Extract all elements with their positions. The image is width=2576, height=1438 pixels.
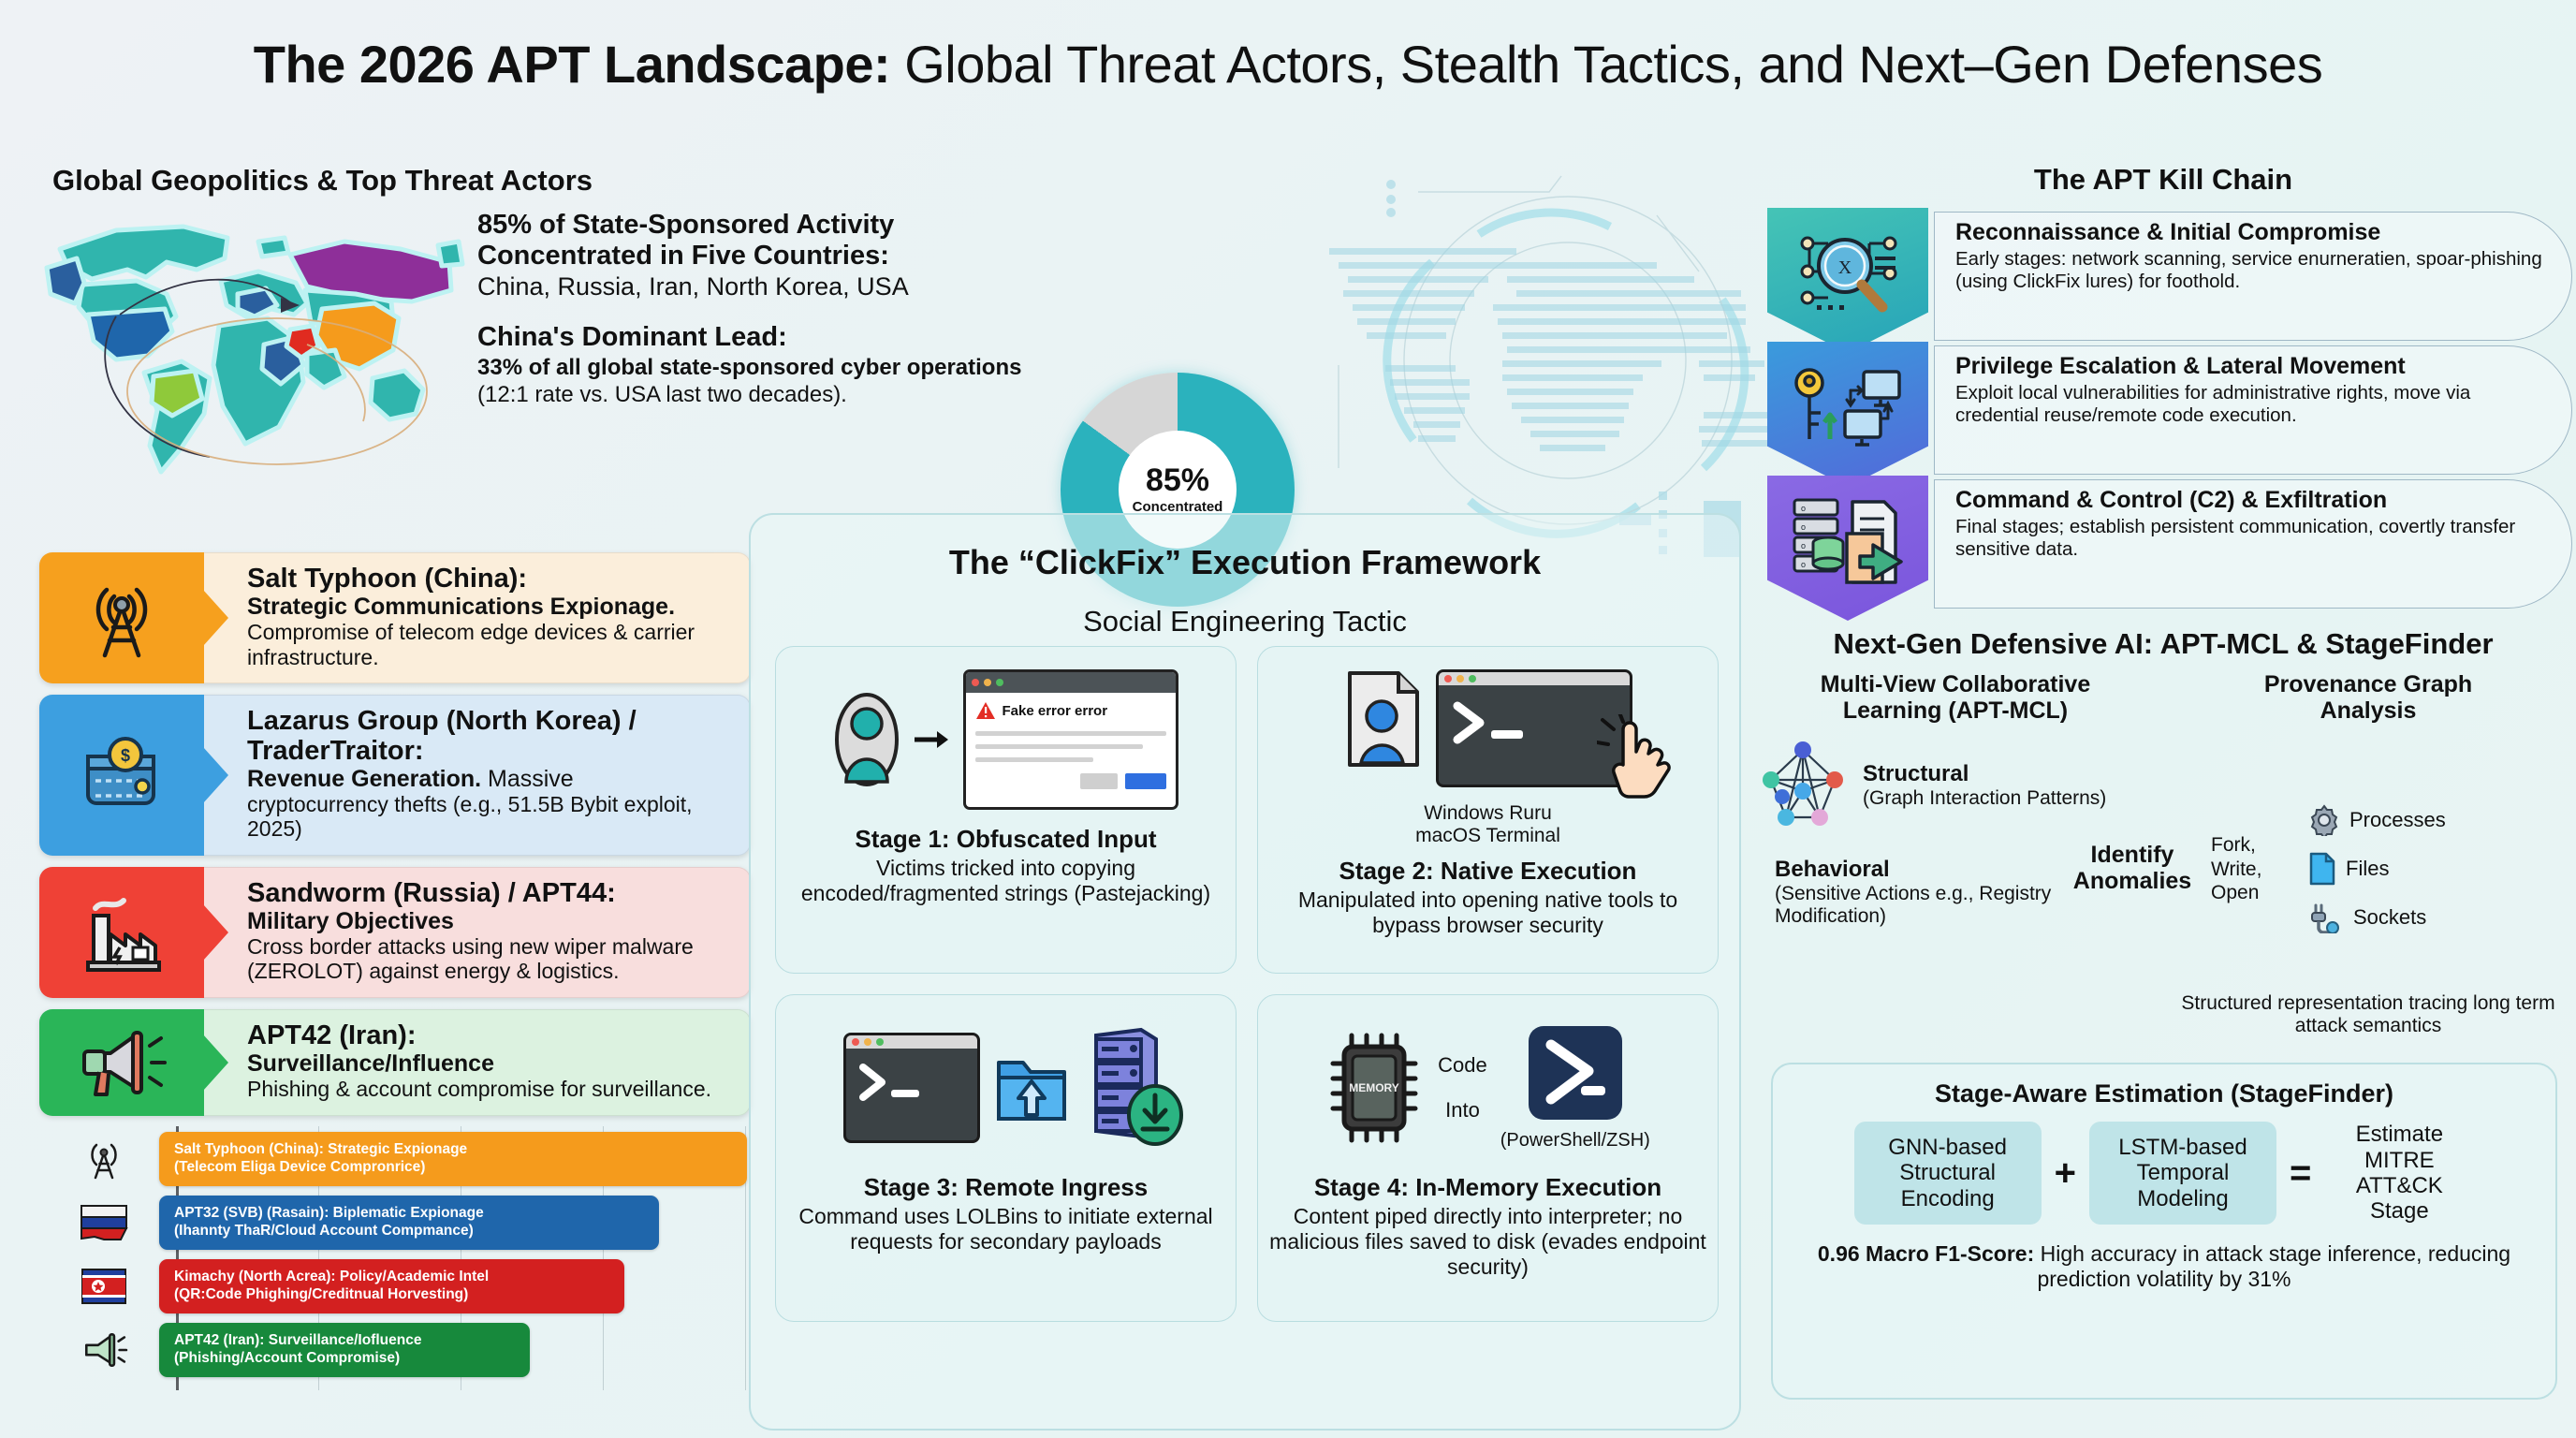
- maximize-dot: [1469, 675, 1476, 682]
- killchain-stage-title: Command & Control (C2) & Exfiltration: [1955, 488, 2545, 513]
- stage-heading: Stage 3: Remote Ingress: [864, 1173, 1148, 1202]
- svg-text:$: $: [121, 746, 130, 765]
- powershell-icon: [1527, 1024, 1624, 1122]
- svg-text:X: X: [1838, 257, 1852, 278]
- stage-description: Command uses LOLBins to initiate externa…: [787, 1204, 1224, 1255]
- clickfix-stage-card[interactable]: Fake error error Stage 1: Obfuscate: [775, 646, 1237, 974]
- killchain-heading: The APT Kill Chain: [1750, 163, 2576, 197]
- key-monitors-icon: [1767, 342, 1928, 487]
- stage2-artwork: [1344, 660, 1632, 819]
- clickfix-title: The “ClickFix” Execution Framework: [751, 543, 1739, 582]
- click-hand-icon: [1597, 714, 1683, 804]
- chart-bar-row: APT42 (Iran): Surveillance/Iofluence (Ph…: [37, 1321, 530, 1379]
- svg-text:o: o: [1801, 504, 1806, 513]
- page-title-bold: The 2026 APT Landscape:: [254, 35, 890, 94]
- chart-bar-label-line1: Kimachy (North Acrea): Policy/Academic I…: [174, 1269, 611, 1286]
- upload-folder-icon: [993, 1046, 1070, 1130]
- stagefinder-equation: GNN-based Structural Encoding + LSTM-bas…: [1790, 1122, 2539, 1225]
- threat-actor-body: Sandworm (Russia) / APT44: Military Obje…: [204, 867, 751, 998]
- killchain-stage-box: Command & Control (C2) & Exfiltration Fi…: [1934, 479, 2572, 609]
- stat-body-rest: (12:1 rate vs. USA last two decades).: [477, 382, 847, 407]
- flow-label-into: Into: [1438, 1088, 1487, 1133]
- memory-chip-icon: MEMORY: [1325, 1030, 1425, 1146]
- stagefinder-result: Estimate MITRE ATT&CK Stage: [2324, 1122, 2474, 1224]
- threat-actor-subtitle-rest: Massive: [481, 766, 574, 792]
- stagefinder-footer-bold: 0.96 Macro F1-Score:: [1818, 1241, 2034, 1266]
- threat-actor-title: Lazarus Group (North Korea) / TraderTrai…: [247, 707, 733, 766]
- stage4-artwork: MEMORY Code Into (PowerShell/ZSH): [1325, 1008, 1650, 1167]
- flag-northkorea-icon: [75, 1261, 133, 1312]
- chart-bar-label-line2: (QR:Code Phighing/Creditnual Horvesting): [174, 1286, 611, 1304]
- minimize-dot: [864, 1038, 871, 1046]
- mcl-heading-line1: Multi-View Collaborative: [1754, 672, 2157, 698]
- fake-error-window: Fake error error: [963, 669, 1178, 810]
- page-title: The 2026 APT Landscape: Global Threat Ac…: [0, 34, 2576, 95]
- killchain-stage[interactable]: oooo Command & Control (C2) & Exfiltrati…: [1767, 476, 2572, 621]
- stat-headline-2: Concentrated in Five Countries:: [477, 241, 1039, 271]
- user-document-icon: [1344, 669, 1423, 769]
- close-dot: [852, 1038, 859, 1046]
- stagefinder-box-lstm: LSTM-based Temporal Modeling: [2089, 1122, 2276, 1225]
- wallet-coin-icon: $: [39, 695, 204, 856]
- stats-block: 85% of State-Sponsored Activity Concentr…: [477, 210, 1039, 409]
- card-arrow-wedge: [203, 904, 228, 961]
- fake-error-text: Fake error error: [1003, 703, 1108, 719]
- stagefinder-title: Stage-Aware Estimation (StageFinder): [1790, 1079, 2539, 1108]
- provenance-item-label: Processes: [2349, 808, 2446, 832]
- radio-tower-icon: [75, 1134, 133, 1184]
- threat-actor-desc: Cross border attacks using new wiper mal…: [247, 934, 733, 984]
- stagefinder-box-gnn: GNN-based Structural Encoding: [1854, 1122, 2042, 1225]
- stage1-artwork: Fake error error: [834, 660, 1178, 819]
- megaphone-icon: [39, 1009, 204, 1116]
- stagefinder-operator-plus: +: [2055, 1152, 2076, 1195]
- stat-headline-1: 85% of State-Sponsored Activity: [477, 210, 1039, 241]
- right-column: The APT Kill Chain X: [1750, 150, 2576, 1438]
- server-exfil-icon: oooo: [1767, 476, 1928, 621]
- clickfix-stage-grid: Fake error error Stage 1: Obfuscate: [775, 646, 1719, 1322]
- stat-subhead: China's Dominant Lead:: [477, 322, 1039, 353]
- mcl-structural-sub: (Graph Interaction Patterns): [1863, 787, 2106, 810]
- clickfix-stage-card[interactable]: Stage 3: Remote Ingress Command uses LOL…: [775, 994, 1237, 1322]
- flow-label-code: Code: [1438, 1043, 1487, 1088]
- provenance-ops-label: Fork, Write, Open: [2211, 833, 2305, 905]
- threat-actor-card[interactable]: Salt Typhoon (China): Strategic Communic…: [39, 552, 751, 683]
- stat-countries: China, Russia, Iran, North Korea, USA: [477, 272, 1039, 302]
- prompt-caret-icon: [857, 1060, 942, 1114]
- window-content: Fake error error: [966, 693, 1176, 798]
- killchain-stage-box: Privilege Escalation & Lateral Movement …: [1934, 345, 2572, 475]
- clickfix-stage-card[interactable]: Windows Ruru macOS Terminal Stage 2: Nat…: [1257, 646, 1719, 974]
- stage-description: Victims tricked into copying encoded/fra…: [787, 856, 1224, 906]
- stage-description: Manipulated into opening native tools to…: [1269, 888, 1706, 938]
- close-dot: [972, 679, 979, 686]
- threat-actor-title: Sandworm (Russia) / APT44:: [247, 879, 733, 908]
- stage2-caption: Windows Ruru macOS Terminal: [1415, 802, 1560, 847]
- chip-label: MEMORY: [1349, 1081, 1399, 1094]
- chart-bar[interactable]: APT42 (Iran): Surveillance/Iofluence (Ph…: [159, 1323, 530, 1377]
- killchain-stage-desc: Early stages: network scanning, service …: [1955, 248, 2545, 293]
- minimize-dot: [984, 679, 991, 686]
- threat-actor-subtitle-bold: Military Objectives: [247, 908, 454, 934]
- ok-button[interactable]: [1125, 773, 1166, 789]
- stage4-flow-labels: Code Into: [1438, 1043, 1487, 1134]
- terminal-titlebar: [846, 1035, 977, 1049]
- stat-body-bold: 33% of all global state-sponsored cyber …: [477, 355, 1021, 380]
- window-titlebar: [966, 672, 1176, 693]
- provenance-footer: Structured representation tracing long t…: [2162, 992, 2574, 1038]
- provenance-item: Files: [2308, 844, 2570, 893]
- threat-actor-card-list: Salt Typhoon (China): Strategic Communic…: [39, 552, 751, 1127]
- killchain-stage-title: Privilege Escalation & Lateral Movement: [1955, 354, 2545, 379]
- victim-avatar-icon: [834, 684, 900, 795]
- graph-network-icon: [1754, 737, 1851, 834]
- download-badge-icon: [1126, 1084, 1184, 1146]
- threat-actor-subtitle-bold: Surveillance/Influence: [247, 1050, 494, 1077]
- maximize-dot: [996, 679, 1003, 686]
- chart-bar[interactable]: APT32 (SVB) (Rasain): Biplematic Expiona…: [159, 1196, 659, 1250]
- stage-heading: Stage 2: Native Execution: [1339, 857, 1637, 886]
- chart-bar-label-line2: (Telecom Eliga Device Compronrice): [174, 1159, 734, 1177]
- provenance-item: Sockets: [2308, 893, 2570, 942]
- chart-bar-label-line1: Salt Typhoon (China): Strategic Expionag…: [174, 1141, 734, 1159]
- socket-icon: [2308, 902, 2344, 933]
- threat-actor-desc: cryptocurrency thefts (e.g., 51.5B Bybit…: [247, 792, 733, 842]
- megaphone-icon: [75, 1325, 133, 1375]
- cancel-button[interactable]: [1080, 773, 1118, 789]
- infographic-canvas: The 2026 APT Landscape: Global Threat Ac…: [0, 0, 2576, 1438]
- prompt-caret-icon: [1452, 698, 1555, 756]
- chart-bar-label-line2: (Ihannty ThaR/Cloud Account Compmance): [174, 1223, 646, 1240]
- provenance-item-list: Processes Files Sockets: [2308, 796, 2570, 942]
- threat-actor-subtitle: Military Objectives: [247, 908, 733, 934]
- threat-actor-title: Salt Typhoon (China):: [247, 565, 733, 594]
- left-column: Global Geopolitics & Top Threat Actors: [0, 150, 777, 1432]
- stage-heading: Stage 4: In-Memory Execution: [1314, 1173, 1661, 1202]
- defensive-ai-heading: Next-Gen Defensive AI: APT-MCL & StageFi…: [1750, 627, 2576, 661]
- stagefinder-footer: 0.96 Macro F1-Score: High accuracy in at…: [1790, 1241, 2539, 1291]
- identify-anomalies-label: Identify Anomalies: [2048, 843, 2217, 894]
- card-arrow-wedge: [203, 747, 228, 803]
- clickfix-stage-card[interactable]: MEMORY Code Into (PowerShell/ZSH): [1257, 994, 1719, 1322]
- maximize-dot: [876, 1038, 884, 1046]
- stagefinder-footer-rest: High accuracy in attack stage inference,…: [2034, 1241, 2510, 1291]
- threat-actor-subtitle: Revenue Generation. Massive: [247, 766, 733, 792]
- killchain-stage[interactable]: Privilege Escalation & Lateral Movement …: [1767, 342, 2572, 487]
- pga-heading-line2: Analysis: [2172, 698, 2565, 725]
- threat-actor-subtitle: Surveillance/Influence: [247, 1050, 733, 1077]
- chart-bar-row: APT32 (SVB) (Rasain): Biplematic Expiona…: [37, 1194, 659, 1252]
- threat-actor-card[interactable]: APT42 (Iran): Surveillance/Influence Phi…: [39, 1009, 751, 1116]
- provenance-item: Processes: [2308, 796, 2570, 844]
- threat-actor-card[interactable]: $ Lazarus Group (North Korea) / TraderTr…: [39, 695, 751, 856]
- magnifier-network-icon: X: [1767, 208, 1928, 353]
- killchain-stage-desc: Final stages; establish persistent commu…: [1955, 516, 2545, 561]
- geopolitics-heading: Global Geopolitics & Top Threat Actors: [52, 164, 593, 198]
- warning-triangle-icon: [975, 701, 996, 720]
- card-arrow-wedge: [203, 1034, 228, 1091]
- threat-actor-body: Lazarus Group (North Korea) / TraderTrai…: [204, 695, 751, 856]
- clickfix-subtitle: Social Engineering Tactic: [751, 605, 1739, 638]
- file-icon: [2308, 852, 2336, 886]
- threat-actor-card[interactable]: Sandworm (Russia) / APT44: Military Obje…: [39, 867, 751, 998]
- stat-body: 33% of all global state-sponsored cyber …: [477, 355, 1039, 409]
- stage2-caption-line2: macOS Terminal: [1415, 825, 1560, 847]
- card-arrow-wedge: [203, 590, 228, 646]
- killchain-stage[interactable]: X Reconnaissance & Initial Compromise Ea…: [1767, 208, 2572, 353]
- chart-bar-label-line1: APT32 (SVB) (Rasain): Biplematic Expiona…: [174, 1205, 646, 1223]
- threat-actor-subtitle: Strategic Communications Expionage.: [247, 594, 733, 620]
- threat-actor-desc: Compromise of telecom edge devices & car…: [247, 620, 733, 669]
- factory-icon: [39, 867, 204, 998]
- terminal-titlebar: [1439, 672, 1630, 685]
- threat-actor-body: APT42 (Iran): Surveillance/Influence Phi…: [204, 1009, 751, 1116]
- stagefinder-operator-equals: =: [2290, 1152, 2311, 1195]
- stage4-caption: (PowerShell/ZSH): [1500, 1130, 1650, 1152]
- chart-bar-label-line2: (Phishing/Account Compromise): [174, 1350, 517, 1368]
- provenance-item-label: Sockets: [2353, 905, 2426, 930]
- pga-heading-line1: Provenance Graph: [2172, 672, 2565, 698]
- svg-text:o: o: [1801, 560, 1806, 569]
- donut-percent: 85%: [1146, 464, 1209, 496]
- provenance-graph-block: Provenance Graph Analysis: [2172, 672, 2565, 724]
- stage-description: Content piped directly into interpreter;…: [1269, 1204, 1706, 1280]
- chart-bar-label-line1: APT42 (Iran): Surveillance/Iofluence: [174, 1332, 517, 1350]
- stage2-caption-line1: Windows Ruru: [1415, 802, 1560, 825]
- chart-bar-row: Kimachy (North Acrea): Policy/Academic I…: [37, 1257, 624, 1315]
- svg-text:o: o: [1801, 541, 1806, 550]
- minimize-dot: [1456, 675, 1464, 682]
- stage3-artwork: [843, 1008, 1169, 1167]
- threat-actor-bar-chart: Salt Typhoon (China): Strategic Expionag…: [37, 1119, 768, 1400]
- radio-tower-icon: [39, 552, 204, 683]
- mcl-heading-line2: Learning (APT-MCL): [1754, 698, 2157, 725]
- killchain-stage-box: Reconnaissance & Initial Compromise Earl…: [1934, 212, 2572, 341]
- stagefinder-panel: Stage-Aware Estimation (StageFinder) GNN…: [1771, 1063, 2557, 1400]
- killchain-stage-title: Reconnaissance & Initial Compromise: [1955, 220, 2545, 245]
- chart-bar[interactable]: Kimachy (North Acrea): Policy/Academic I…: [159, 1259, 624, 1313]
- terminal-window: [843, 1033, 980, 1143]
- svg-text:o: o: [1801, 522, 1806, 532]
- page-title-rest: Global Threat Actors, Stealth Tactics, a…: [890, 35, 2322, 94]
- threat-actor-body: Salt Typhoon (China): Strategic Communic…: [204, 552, 751, 683]
- threat-actor-title: APT42 (Iran):: [247, 1021, 733, 1050]
- mcl-structural-label: Structural: [1863, 761, 2106, 787]
- provenance-item-label: Files: [2346, 857, 2389, 881]
- flag-russia-icon: [75, 1197, 133, 1248]
- clickfix-framework-panel: The “ClickFix” Execution Framework Socia…: [749, 513, 1741, 1431]
- threat-actor-subtitle-bold: Strategic Communications Expionage.: [247, 594, 675, 620]
- threat-actor-desc: Phishing & account compromise for survei…: [247, 1077, 733, 1101]
- chart-bar[interactable]: Salt Typhoon (China): Strategic Expionag…: [159, 1132, 747, 1186]
- arrow-right-icon: [913, 726, 950, 753]
- threat-actor-subtitle-bold: Revenue Generation.: [247, 766, 481, 792]
- gear-icon: [2308, 804, 2340, 836]
- chart-bar-row: Salt Typhoon (China): Strategic Expionag…: [37, 1130, 747, 1188]
- close-dot: [1444, 675, 1452, 682]
- killchain-stage-desc: Exploit local vulnerabilities for admini…: [1955, 382, 2545, 427]
- world-map-graphic: [26, 204, 466, 494]
- stage-heading: Stage 1: Obfuscated Input: [855, 825, 1156, 854]
